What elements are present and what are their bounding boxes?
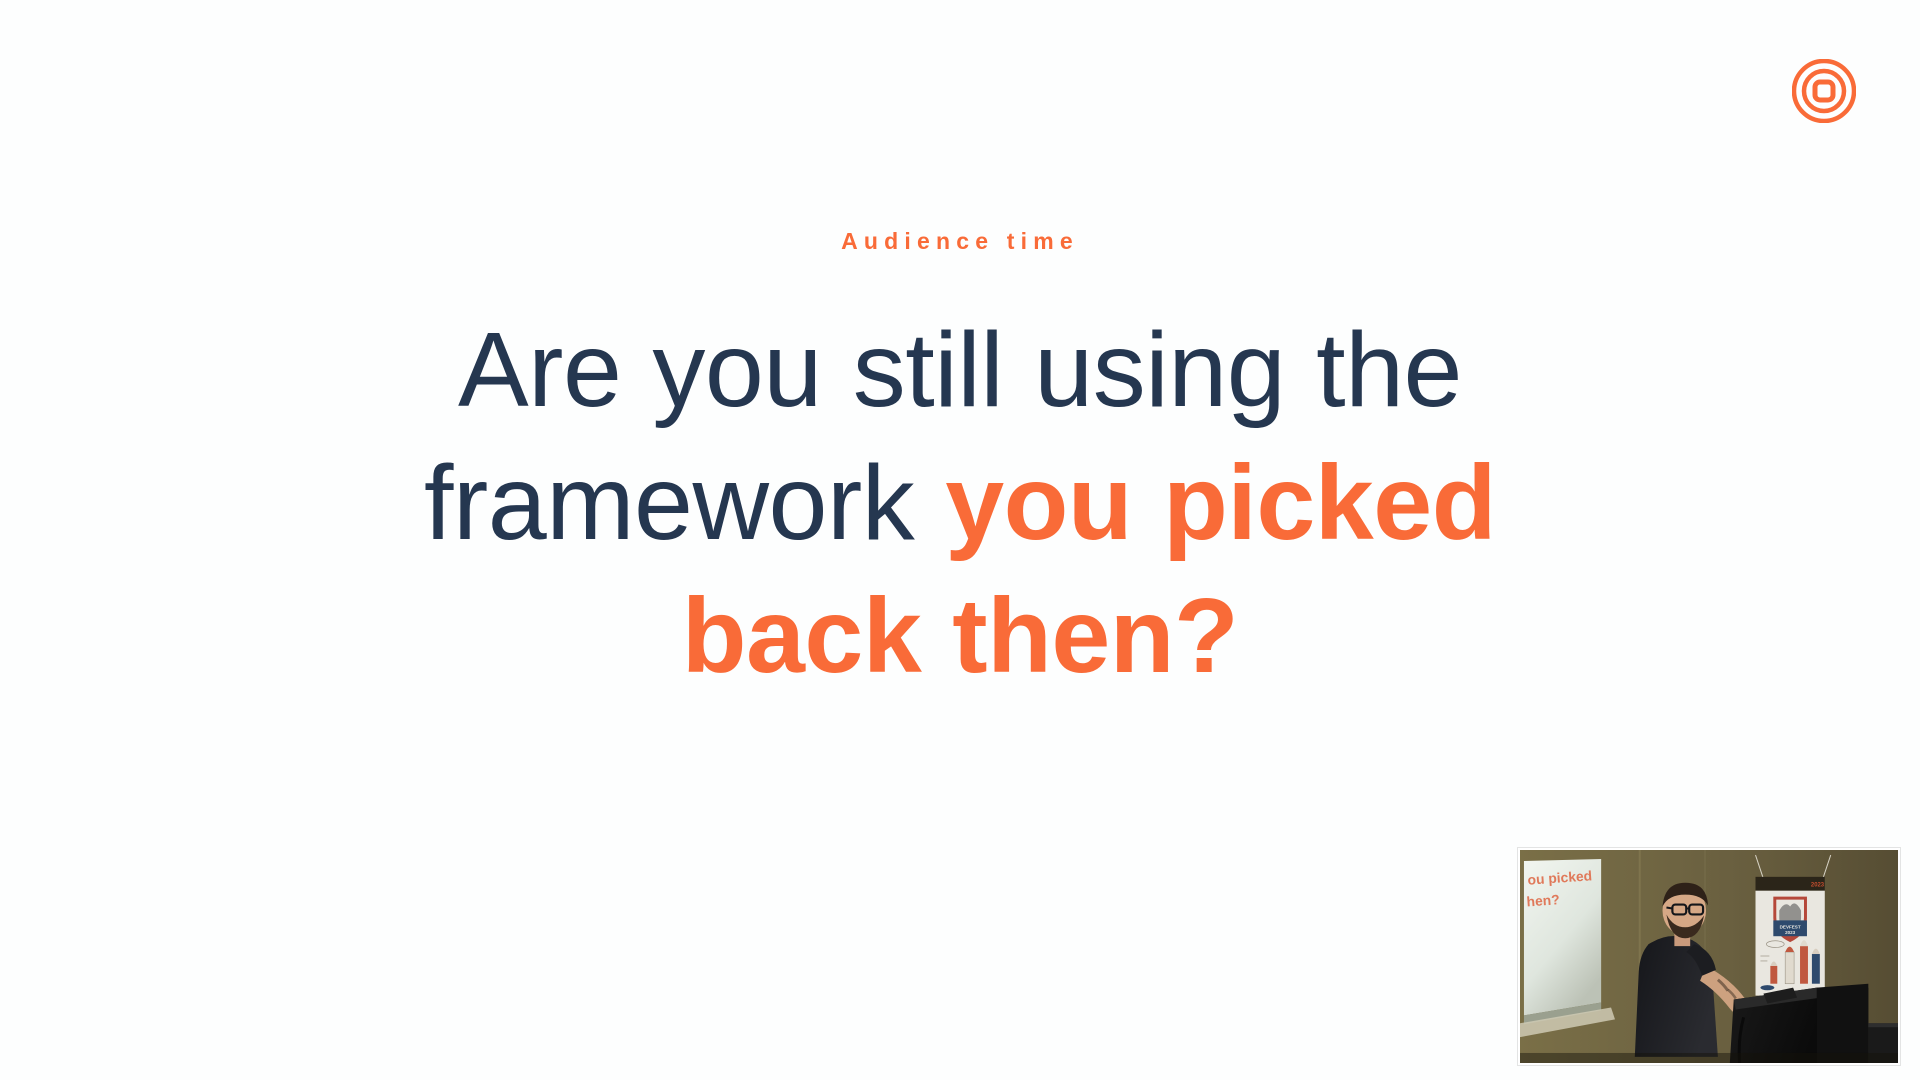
- speaker-scene-illustration: ou picked hen? 2023 DEVFEST: [1520, 850, 1898, 1063]
- speaker-video-thumbnail[interactable]: ou picked hen? 2023 DEVFEST: [1518, 848, 1900, 1065]
- svg-text:hen?: hen?: [1526, 891, 1560, 909]
- headline-segment-plain-2: framework: [424, 444, 945, 562]
- headline-segment-accent-2: back then?: [682, 577, 1239, 695]
- headline-segment-plain-1: Are you still using the: [458, 311, 1462, 429]
- svg-text:2023: 2023: [1811, 883, 1825, 889]
- svg-text:2023: 2023: [1785, 930, 1796, 935]
- headline-segment-accent-1: you picked: [945, 444, 1496, 562]
- presentation-slide: Audience time Are you still using the fr…: [0, 0, 1920, 1080]
- slide-headline: Are you still using the framework you pi…: [395, 304, 1525, 703]
- video-frame: ou picked hen? 2023 DEVFEST: [1520, 850, 1898, 1063]
- svg-text:DEVFEST: DEVFEST: [1780, 924, 1801, 929]
- slide-eyebrow-label: Audience time: [841, 228, 1079, 256]
